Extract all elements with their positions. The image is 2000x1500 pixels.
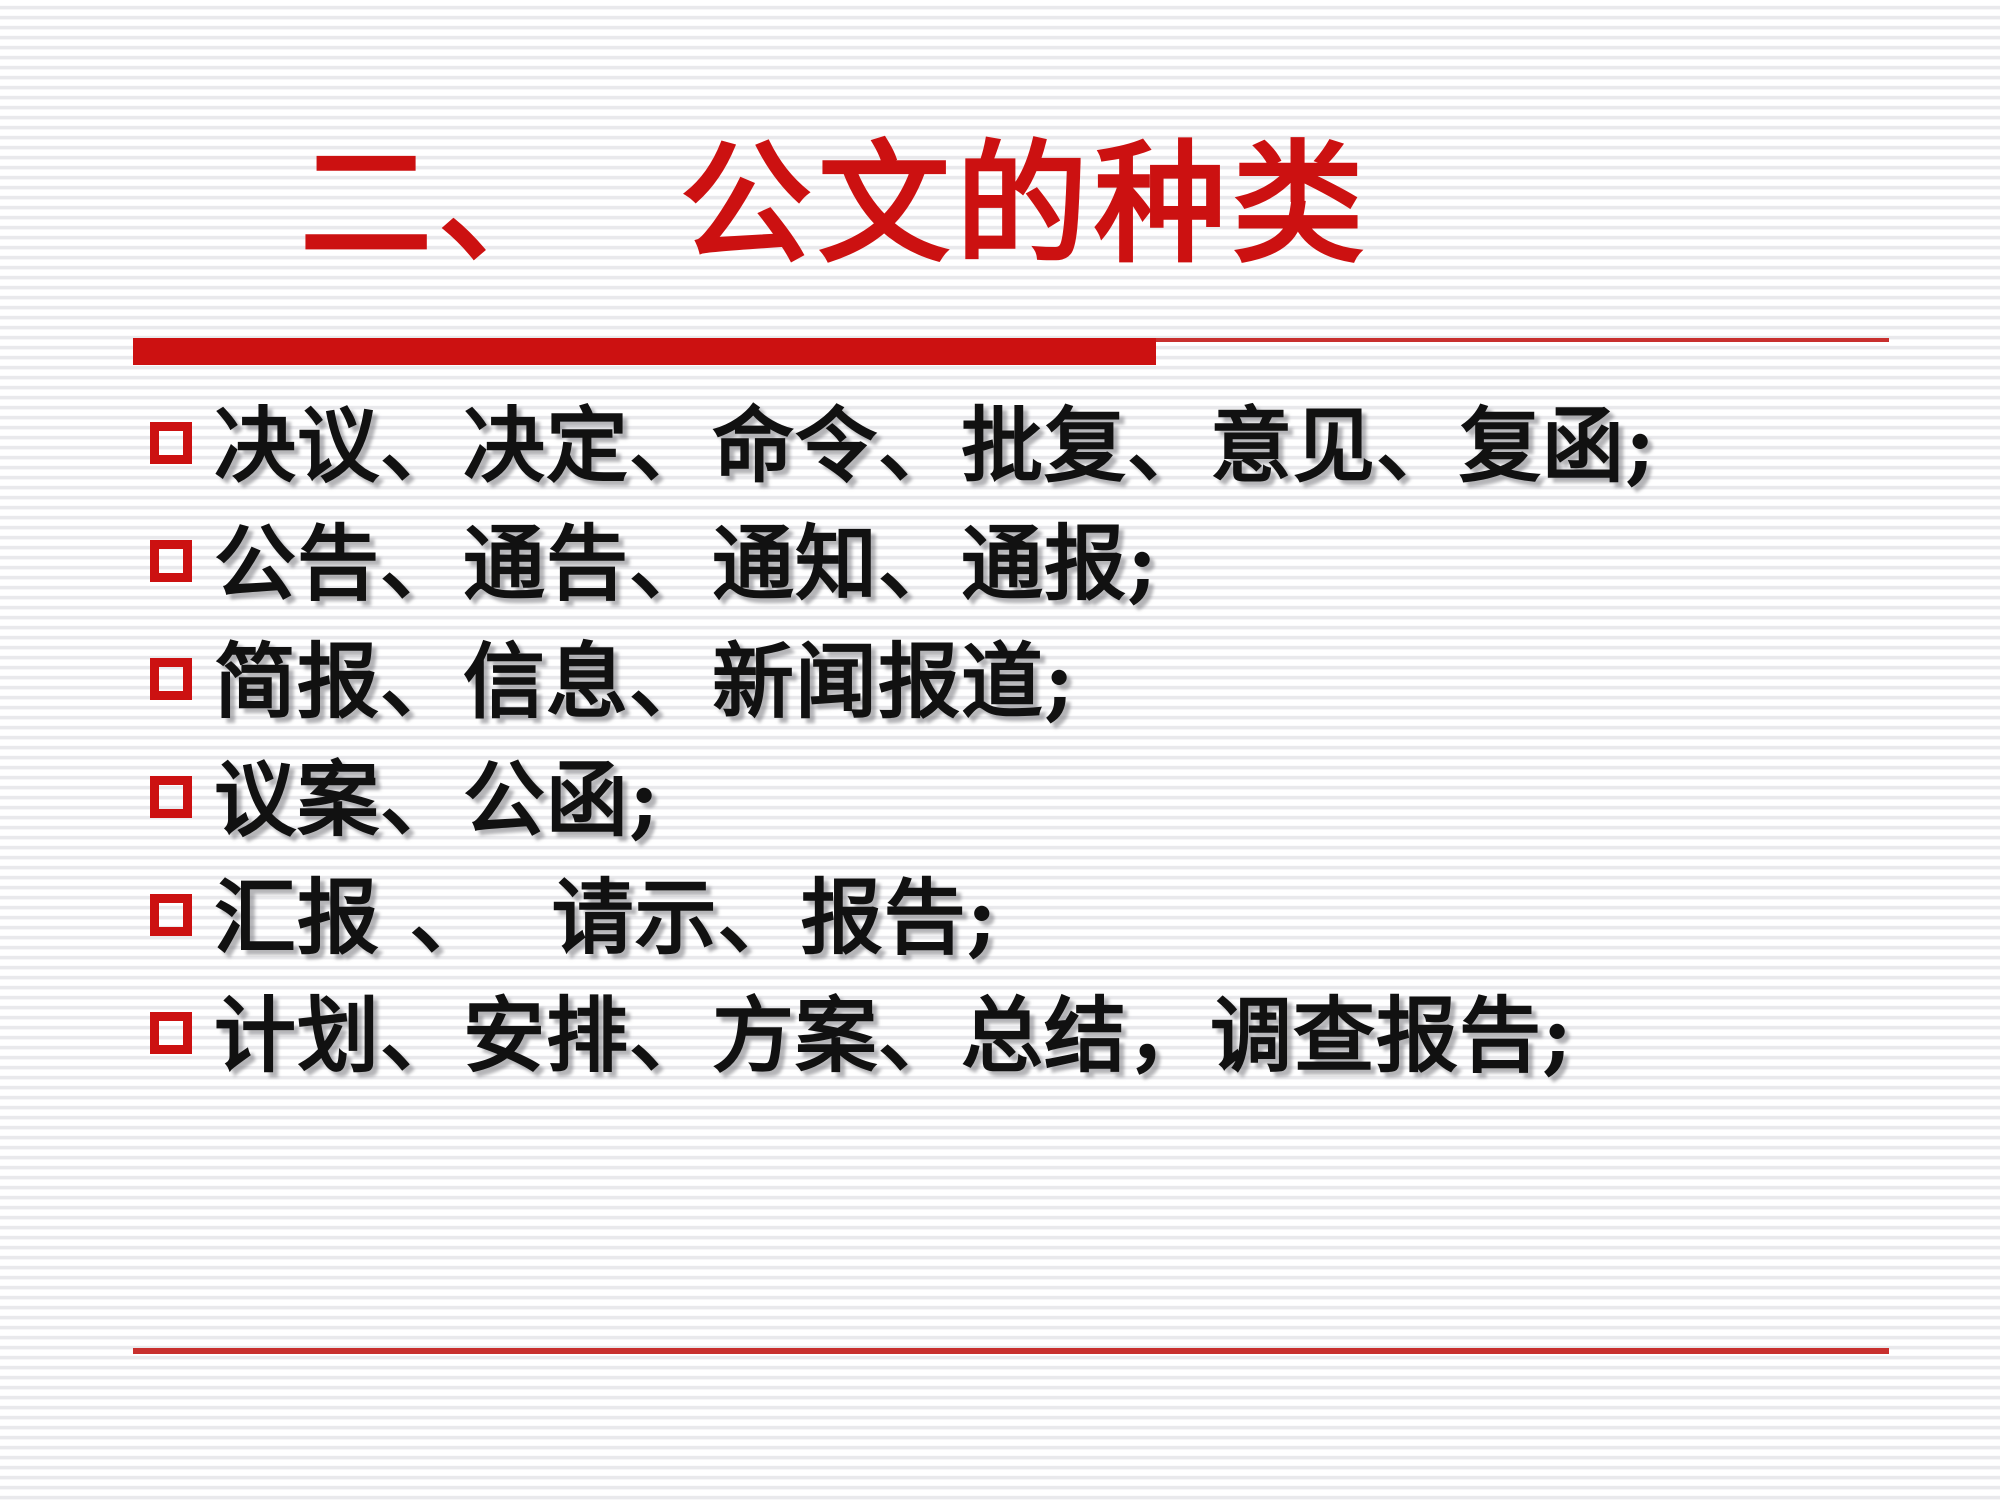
list-item: 议案、公函; [150, 744, 1950, 862]
presentation-slide: 二、 公文的种类 决议、决定、命令、批复、意见、复函; 公告、通告、通知、通报;… [0, 0, 2000, 1500]
list-item: 计划、安排、方案、总结，调查报告; [150, 980, 1950, 1098]
square-bullet-icon [150, 422, 192, 464]
slide-title-block: 二、 公文的种类 [0, 120, 2000, 310]
square-bullet-icon [150, 894, 192, 936]
bullet-list: 决议、决定、命令、批复、意见、复函; 公告、通告、通知、通报; 简报、信息、新闻… [150, 390, 1950, 1098]
list-item-label: 公告、通告、通知、通报; [214, 508, 1950, 620]
divider-thin-line [1156, 338, 1889, 342]
list-item-label: 决议、决定、命令、批复、意见、复函; [214, 390, 1950, 502]
square-bullet-icon [150, 776, 192, 818]
list-item: 公告、通告、通知、通报; [150, 508, 1950, 626]
list-item: 简报、信息、新闻报道; [150, 626, 1950, 744]
page-title: 二、 公文的种类 [300, 120, 1370, 290]
divider-thick-bar [133, 338, 1156, 365]
square-bullet-icon [150, 540, 192, 582]
list-item: 决议、决定、命令、批复、意见、复函; [150, 390, 1950, 508]
title-divider [0, 330, 2000, 370]
list-item-label: 议案、公函; [214, 744, 1950, 856]
square-bullet-icon [150, 1012, 192, 1054]
list-item-label: 简报、信息、新闻报道; [214, 626, 1950, 738]
square-bullet-icon [150, 658, 192, 700]
list-item: 汇报 、 请示、报告; [150, 862, 1950, 980]
list-item-label: 计划、安排、方案、总结，调查报告; [214, 980, 1950, 1092]
list-item-label: 汇报 、 请示、报告; [214, 862, 1950, 974]
footer-rule [133, 1348, 1889, 1354]
